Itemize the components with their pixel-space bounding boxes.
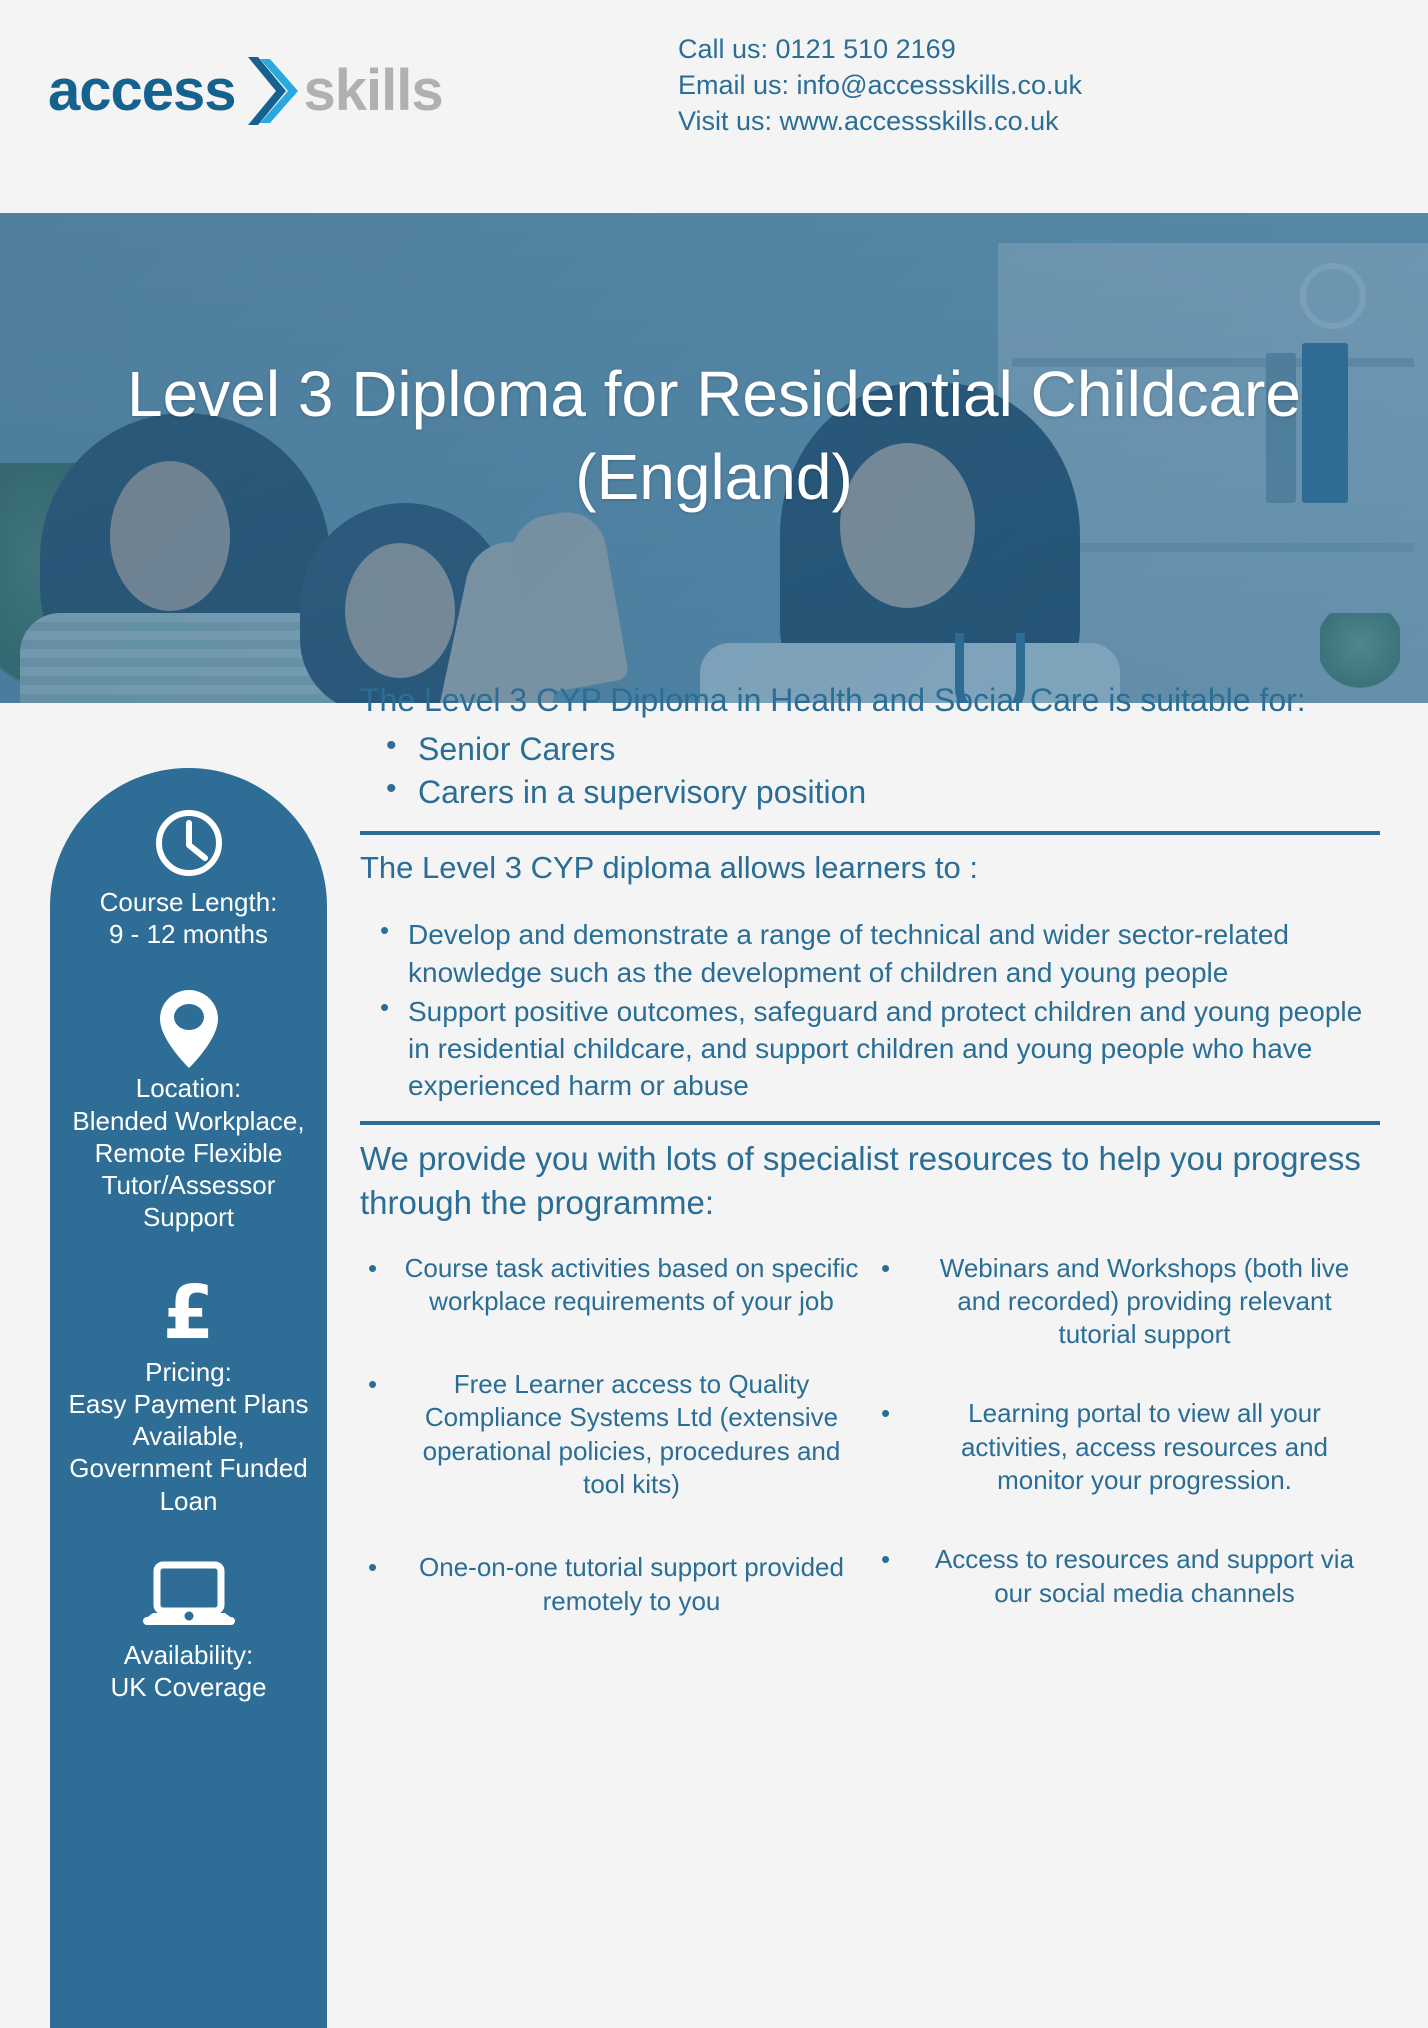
list-item: Support positive outcomes, safeguard and… (360, 993, 1380, 1105)
sidebar-item-pricing: £ Pricing: Easy Payment Plans Available,… (50, 1270, 327, 1517)
list-item: One-on-one tutorial support provided rem… (360, 1551, 867, 1618)
laptop-icon (50, 1553, 327, 1639)
sidebar-label-availability: Availability: (50, 1639, 327, 1671)
sidebar-item-course-length: Course Length: 9 - 12 months (50, 800, 327, 950)
allows-learners-heading: The Level 3 CYP diploma allows learners … (360, 847, 1380, 889)
sidebar-item-availability: Availability: UK Coverage (50, 1553, 327, 1703)
list-item: Course task activities based on specific… (360, 1252, 867, 1319)
chevron-right-icon (246, 55, 298, 127)
divider-1 (360, 831, 1380, 835)
list-item: Free Learner access to Quality Complianc… (360, 1368, 867, 1501)
course-flyer-page: access skills Call us: 0121 510 2169 Ema… (0, 0, 1428, 2028)
contact-email[interactable]: Email us: info@accessskills.co.uk (678, 68, 1082, 104)
main-column: The Level 3 CYP Diploma in Health and So… (360, 703, 1380, 1668)
list-item: Senior Carers (360, 728, 1380, 771)
list-item: Carers in a supervisory position (360, 771, 1380, 814)
divider-2 (360, 1121, 1380, 1125)
body-content: Course Length: 9 - 12 months Location: B… (0, 703, 1428, 2028)
sidebar-value-pricing: Easy Payment Plans Available, Government… (50, 1388, 327, 1517)
sidebar-value-course-length: 9 - 12 months (50, 918, 327, 950)
brand-logo[interactable]: access skills (48, 55, 443, 127)
sidebar-item-location: Location: Blended Workplace, Remote Flex… (50, 986, 327, 1233)
resources-left-column: Course task activities based on specific… (360, 1252, 867, 1668)
page-title: Level 3 Diploma for Residential Childcar… (0, 353, 1428, 519)
sidebar-value-availability: UK Coverage (50, 1671, 327, 1703)
logo-access-text: access (48, 62, 236, 120)
resources-columns: Course task activities based on specific… (360, 1252, 1380, 1668)
clock-icon (50, 800, 327, 886)
page-header: access skills Call us: 0121 510 2169 Ema… (0, 0, 1428, 213)
sidebar-value-location: Blended Workplace, Remote Flexible Tutor… (50, 1105, 327, 1234)
logo-skills-text: skills (304, 62, 443, 120)
location-pin-icon (50, 986, 327, 1072)
suitable-for-list: Senior Carers Carers in a supervisory po… (360, 728, 1380, 814)
list-item: Learning portal to view all your activit… (873, 1397, 1380, 1497)
resources-heading: We provide you with lots of specialist r… (360, 1137, 1380, 1226)
contact-info: Call us: 0121 510 2169 Email us: info@ac… (678, 32, 1082, 140)
sidebar-label-location: Location: (50, 1072, 327, 1104)
course-facts-sidebar: Course Length: 9 - 12 months Location: B… (50, 768, 327, 2028)
suitable-for-heading: The Level 3 CYP Diploma in Health and So… (360, 679, 1380, 722)
list-item: Webinars and Workshops (both live and re… (873, 1252, 1380, 1352)
sidebar-label-pricing: Pricing: (50, 1356, 327, 1388)
contact-phone[interactable]: Call us: 0121 510 2169 (678, 32, 1082, 68)
list-item: Develop and demonstrate a range of techn… (360, 916, 1380, 990)
pound-sterling-icon: £ (50, 1270, 327, 1356)
resources-right-column: Webinars and Workshops (both live and re… (873, 1252, 1380, 1668)
list-item: Access to resources and support via our … (873, 1543, 1380, 1610)
sidebar-label-course-length: Course Length: (50, 886, 327, 918)
allows-learners-list: Develop and demonstrate a range of techn… (360, 916, 1380, 1104)
hero-banner: Level 3 Diploma for Residential Childcar… (0, 213, 1428, 703)
contact-website[interactable]: Visit us: www.accessskills.co.uk (678, 104, 1082, 140)
